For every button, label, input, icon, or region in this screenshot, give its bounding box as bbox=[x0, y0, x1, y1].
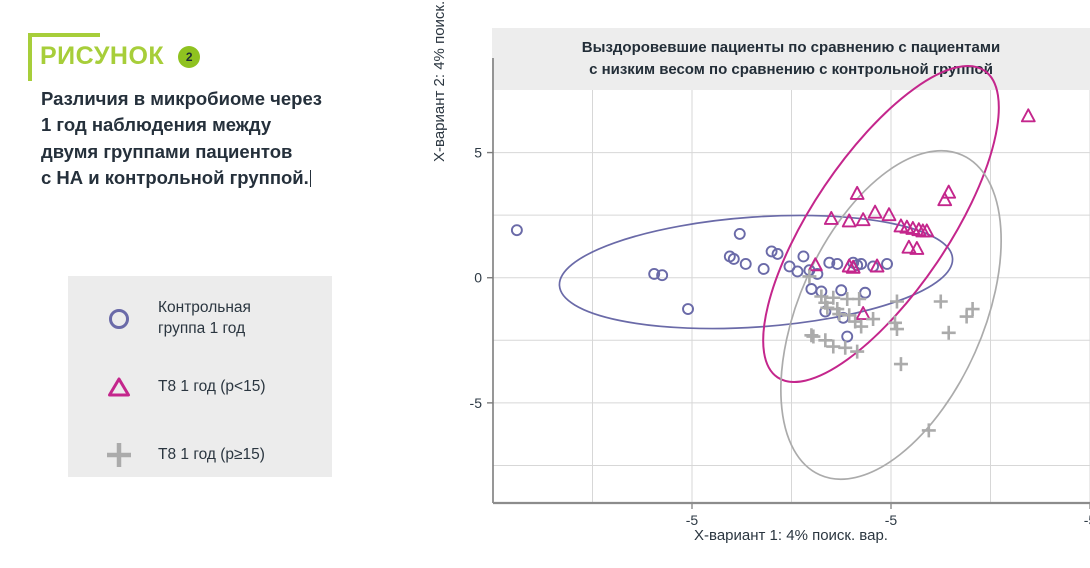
y-tick-label: 5 bbox=[474, 145, 482, 161]
series-circle bbox=[512, 225, 892, 341]
x-tick-label: -5 bbox=[1084, 512, 1090, 528]
figure-header: РИСУНОК 2 bbox=[40, 44, 200, 69]
data-point-circle bbox=[836, 285, 846, 295]
data-point-circle bbox=[798, 251, 808, 261]
data-point-circle bbox=[806, 284, 816, 294]
plot-canvas: 50-5-5-5-5 bbox=[418, 0, 1090, 568]
figure-number-badge: 2 bbox=[178, 46, 200, 68]
caption-line-3: двумя группами пациентов bbox=[41, 139, 441, 165]
data-point-circle bbox=[741, 259, 751, 269]
legend-label-t8-high-p: Т8 1 год (p≥15) bbox=[158, 445, 265, 466]
data-point-plus bbox=[852, 292, 866, 306]
data-point-plus bbox=[934, 295, 948, 309]
data-point-circle bbox=[773, 249, 783, 259]
chart-legend: Контрольная группа 1 год Т8 1 год (p<15) bbox=[68, 276, 332, 477]
data-point-circle bbox=[735, 229, 745, 239]
data-point-plus bbox=[890, 322, 904, 336]
data-point-plus bbox=[894, 357, 908, 371]
data-point-circle bbox=[767, 246, 777, 256]
y-tick-label: 0 bbox=[474, 270, 482, 286]
data-point-plus bbox=[866, 312, 880, 326]
series-triangle bbox=[809, 109, 1035, 319]
data-point-plus bbox=[806, 330, 820, 344]
caption-line-4: с НА и контрольной группой. bbox=[41, 167, 309, 188]
data-point-triangle bbox=[938, 193, 951, 205]
legend-label-control-line1: Контрольная bbox=[158, 299, 251, 316]
circle-marker-icon bbox=[102, 301, 136, 337]
figure-caption-panel: РИСУНОК 2 Различия в микробиоме через 1 … bbox=[0, 0, 470, 568]
legend-item-t8-low-p[interactable]: Т8 1 год (p<15) bbox=[102, 364, 266, 410]
figure-caption: Различия в микробиоме через 1 год наблюд… bbox=[41, 86, 441, 192]
x-tick-label: -5 bbox=[885, 512, 898, 528]
legend-item-control[interactable]: Контрольная группа 1 год bbox=[102, 296, 266, 342]
data-point-plus bbox=[826, 340, 840, 354]
triangle-marker-icon bbox=[102, 369, 136, 405]
data-point-circle bbox=[860, 288, 870, 298]
data-point-plus bbox=[922, 423, 936, 437]
data-point-triangle bbox=[1022, 109, 1035, 121]
plus-marker-icon bbox=[102, 437, 136, 473]
data-point-plus bbox=[838, 341, 852, 355]
data-point-triangle bbox=[883, 208, 896, 220]
caption-line-1: Различия в микробиоме через bbox=[41, 86, 441, 112]
data-point-circle bbox=[792, 266, 802, 276]
data-point-plus bbox=[890, 295, 904, 309]
data-point-triangle bbox=[869, 206, 882, 218]
legend-label-t8-low-p: Т8 1 год (p<15) bbox=[158, 377, 266, 398]
data-point-plus bbox=[840, 292, 854, 306]
data-point-plus bbox=[942, 326, 956, 340]
y-tick-label: -5 bbox=[470, 395, 483, 411]
data-point-circle bbox=[512, 225, 522, 235]
x-tick-label: -5 bbox=[686, 512, 699, 528]
data-point-circle bbox=[759, 264, 769, 274]
legend-item-t8-high-p[interactable]: Т8 1 год (p≥15) bbox=[102, 432, 266, 478]
legend-label-control: Контрольная группа 1 год bbox=[158, 298, 251, 339]
scatter-chart: Выздоровевшие пациенты по сравнению с па… bbox=[418, 0, 1090, 568]
figure-kicker: РИСУНОК bbox=[40, 44, 164, 69]
data-point-plus bbox=[818, 333, 832, 347]
caption-line-2: 1 год наблюдения между bbox=[41, 112, 441, 138]
legend-label-control-line2: группа 1 год bbox=[158, 320, 245, 337]
text-cursor bbox=[310, 170, 311, 187]
t8-low-p-ellipse bbox=[721, 33, 1041, 416]
data-point-triangle bbox=[825, 212, 838, 224]
data-point-plus bbox=[888, 316, 902, 330]
